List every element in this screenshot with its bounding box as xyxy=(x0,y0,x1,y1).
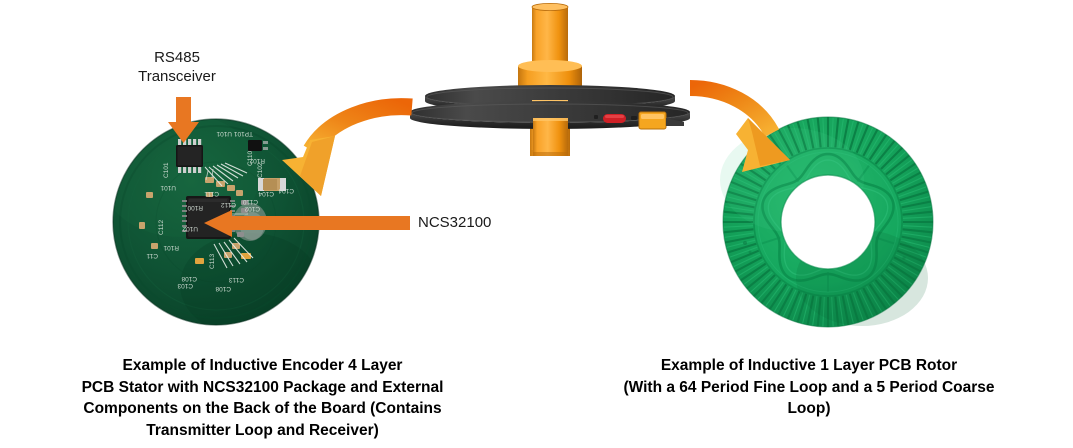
svg-text:C11: C11 xyxy=(146,252,158,259)
svg-text:C101: C101 xyxy=(163,162,170,178)
svg-text:C108: C108 xyxy=(215,285,231,292)
caption-stator: Example of Inductive Encoder 4 Layer PCB… xyxy=(0,355,525,441)
ncs32100-label: NCS32100 xyxy=(418,213,491,232)
svg-text:R101: R101 xyxy=(163,244,179,251)
svg-text:C111: C111 xyxy=(204,190,219,197)
rs485-transceiver-label: RS485 Transceiver xyxy=(118,48,236,86)
svg-text:C104: C104 xyxy=(278,187,294,194)
svg-text:C102: C102 xyxy=(244,205,260,212)
svg-text:C112: C112 xyxy=(221,201,236,208)
figure-canvas: TP101 U101 C101 U101 C112 C11 R101 C103 … xyxy=(0,0,1073,448)
svg-text:C110: C110 xyxy=(243,198,258,205)
caption-rotor: Example of Inductive 1 Layer PCB Rotor (… xyxy=(545,355,1073,420)
svg-text:U102: U102 xyxy=(182,225,198,232)
svg-text:U101: U101 xyxy=(160,184,176,191)
svg-text:C104: C104 xyxy=(258,190,274,197)
svg-text:R102: R102 xyxy=(249,157,265,164)
svg-text:C108: C108 xyxy=(181,275,197,282)
encoder-shaft-assembly-graphic xyxy=(410,3,690,156)
svg-text:C113: C113 xyxy=(209,254,216,269)
svg-text:C112: C112 xyxy=(158,220,165,235)
svg-text:TP101 U101: TP101 U101 xyxy=(216,130,253,137)
svg-text:C113: C113 xyxy=(229,276,244,283)
svg-text:R100: R100 xyxy=(187,204,203,211)
svg-text:C103: C103 xyxy=(177,282,193,289)
